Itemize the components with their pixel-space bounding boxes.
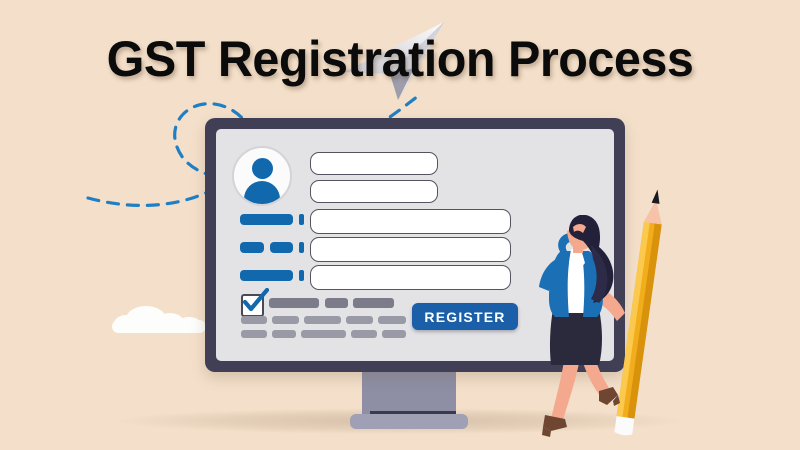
terms-text-bar	[325, 298, 348, 308]
terms-text-bar	[304, 316, 341, 324]
terms-text-bar	[301, 330, 346, 338]
page-title: GST Registration Process	[12, 30, 788, 88]
label-bar-1	[240, 214, 293, 225]
user-avatar	[232, 146, 292, 206]
register-button[interactable]: REGISTER	[412, 303, 518, 330]
terms-text-bar	[272, 316, 299, 324]
checkmark-icon	[240, 288, 269, 314]
terms-text-bar	[241, 330, 267, 338]
terms-text-bar	[378, 316, 406, 324]
detail-field-2[interactable]	[310, 237, 511, 262]
label-separator-1-icon	[299, 214, 304, 225]
avatar-body-icon	[244, 181, 280, 206]
terms-text-bar	[353, 298, 394, 308]
detail-field-1[interactable]	[310, 209, 511, 234]
terms-text-bar	[351, 330, 377, 338]
cloud-icon	[112, 303, 206, 333]
label-bar-2a	[240, 242, 264, 253]
terms-text-bar	[272, 330, 296, 338]
avatar-head-icon	[252, 158, 273, 179]
email-field[interactable]	[310, 180, 438, 203]
detail-field-3[interactable]	[310, 265, 511, 290]
terms-text-bar	[241, 316, 267, 324]
illustration-canvas: GST Registration Process REGISTER	[0, 0, 800, 450]
businesswoman-character	[515, 215, 635, 441]
name-field[interactable]	[310, 152, 438, 175]
terms-text-bar	[269, 298, 319, 308]
terms-text-bar	[346, 316, 373, 324]
label-bar-2b	[270, 242, 293, 253]
label-bar-3	[240, 270, 293, 281]
monitor-stand-neck	[362, 372, 456, 418]
label-separator-3-icon	[299, 270, 304, 281]
monitor-stand-base	[350, 414, 468, 429]
terms-text-bar	[382, 330, 406, 338]
label-separator-2-icon	[299, 242, 304, 253]
